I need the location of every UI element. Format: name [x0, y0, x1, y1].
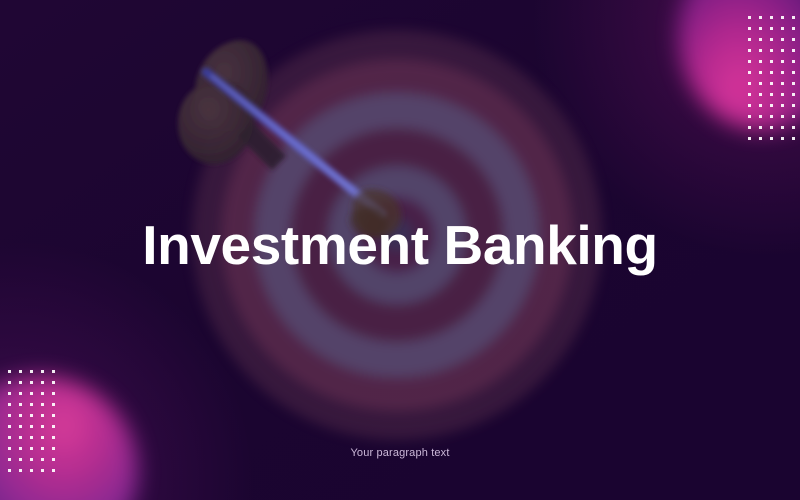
grid-dot — [759, 27, 762, 30]
grid-dot — [781, 104, 784, 107]
slide-subtitle: Your paragraph text — [0, 448, 800, 459]
grid-dot — [30, 381, 33, 384]
grid-dot — [19, 436, 22, 439]
grid-dot — [781, 60, 784, 63]
grid-dot — [770, 82, 773, 85]
grid-dot — [19, 381, 22, 384]
grid-dot — [792, 27, 795, 30]
grid-dot — [8, 469, 11, 472]
grid-dot — [52, 414, 55, 417]
grid-dot — [792, 115, 795, 118]
grid-dot — [748, 82, 751, 85]
grid-dot — [792, 82, 795, 85]
grid-dot — [52, 370, 55, 373]
grid-dot — [781, 38, 784, 41]
grid-dot — [748, 60, 751, 63]
grid-dot — [748, 93, 751, 96]
grid-dot — [781, 49, 784, 52]
grid-dot — [8, 370, 11, 373]
grid-dot — [759, 82, 762, 85]
grid-dot — [770, 27, 773, 30]
grid-dot — [19, 414, 22, 417]
grid-dot — [30, 370, 33, 373]
grid-dot — [770, 49, 773, 52]
grid-dot — [781, 115, 784, 118]
grid-dot — [41, 469, 44, 472]
grid-dot — [19, 403, 22, 406]
grid-dot — [770, 137, 773, 140]
grid-dot — [759, 137, 762, 140]
grid-dot — [748, 27, 751, 30]
grid-dot — [748, 104, 751, 107]
grid-dot — [759, 49, 762, 52]
grid-dot — [41, 436, 44, 439]
grid-dot — [770, 71, 773, 74]
grid-dot — [748, 115, 751, 118]
grid-dot — [19, 392, 22, 395]
grid-dot — [792, 93, 795, 96]
grid-dot — [19, 469, 22, 472]
grid-dot — [759, 71, 762, 74]
grid-dot — [52, 425, 55, 428]
grid-dot — [41, 370, 44, 373]
grid-dot — [30, 403, 33, 406]
grid-dot — [748, 49, 751, 52]
grid-dot — [781, 16, 784, 19]
grid-dot — [8, 392, 11, 395]
grid-dot — [781, 137, 784, 140]
grid-dot — [770, 16, 773, 19]
grid-dot — [30, 392, 33, 395]
grid-dot — [792, 137, 795, 140]
grid-dot — [770, 93, 773, 96]
grid-dot — [19, 370, 22, 373]
grid-dot — [792, 104, 795, 107]
grid-dot — [770, 60, 773, 63]
grid-dot — [19, 425, 22, 428]
grid-dot — [759, 126, 762, 129]
grid-dot — [52, 403, 55, 406]
grid-dot — [748, 126, 751, 129]
grid-dot — [41, 403, 44, 406]
grid-dot — [759, 16, 762, 19]
grid-dot — [8, 436, 11, 439]
grid-dot — [30, 436, 33, 439]
grid-dot — [781, 126, 784, 129]
grid-dot — [8, 414, 11, 417]
grid-dot — [759, 93, 762, 96]
slide-title: Investment Banking — [0, 218, 800, 273]
grid-dot — [770, 126, 773, 129]
grid-dot — [792, 16, 795, 19]
grid-dot — [30, 469, 33, 472]
grid-dot — [52, 436, 55, 439]
grid-dot — [770, 38, 773, 41]
grid-dot — [792, 49, 795, 52]
grid-dot — [759, 104, 762, 107]
grid-dot — [792, 60, 795, 63]
grid-dot — [781, 82, 784, 85]
grid-dot — [770, 115, 773, 118]
grid-dot — [770, 104, 773, 107]
grid-dot — [792, 126, 795, 129]
grid-dot — [52, 381, 55, 384]
grid-dot — [41, 414, 44, 417]
grid-dot — [759, 60, 762, 63]
grid-dot — [8, 403, 11, 406]
grid-dot — [792, 71, 795, 74]
grid-dot — [8, 425, 11, 428]
grid-dot — [792, 38, 795, 41]
grid-dot — [759, 115, 762, 118]
grid-dot — [52, 469, 55, 472]
grid-dot — [52, 392, 55, 395]
grid-dot — [781, 71, 784, 74]
presentation-slide: Investment Banking Your paragraph text — [0, 0, 800, 500]
grid-dot — [781, 93, 784, 96]
grid-dot — [30, 425, 33, 428]
grid-dot — [748, 16, 751, 19]
grid-dot — [30, 414, 33, 417]
grid-dot — [748, 38, 751, 41]
grid-dot — [781, 27, 784, 30]
grid-dot — [8, 381, 11, 384]
grid-dot — [759, 38, 762, 41]
grid-dot — [41, 425, 44, 428]
grid-dot — [748, 71, 751, 74]
grid-dot — [748, 137, 751, 140]
grid-dot — [41, 381, 44, 384]
grid-dot — [41, 392, 44, 395]
